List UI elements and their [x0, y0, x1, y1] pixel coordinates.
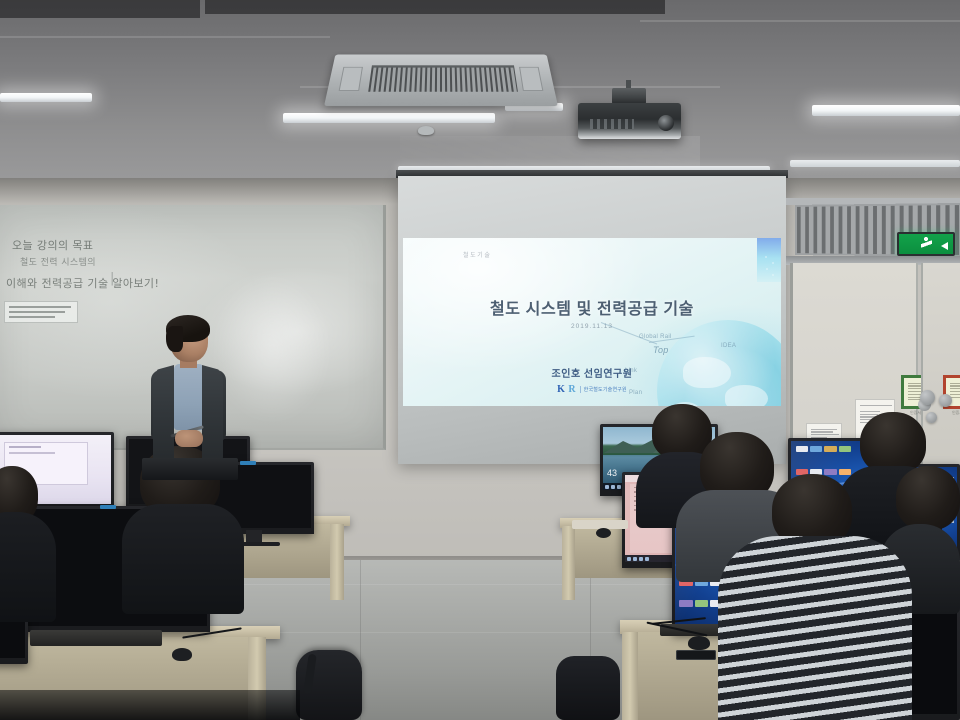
- presenter-hands: [175, 430, 203, 447]
- whiteboard-notice: 강의실 관리 안내문: [4, 301, 78, 323]
- mouse-mid[interactable]: [688, 636, 710, 650]
- mouse-left[interactable]: [172, 648, 192, 661]
- projector-controls: [590, 119, 634, 129]
- map-label-a: Global Rail: [639, 334, 672, 340]
- ceiling-light: [283, 113, 495, 123]
- ceiling-light: [790, 160, 960, 167]
- ceiling: [0, 0, 960, 182]
- keyboard-left[interactable]: [30, 630, 162, 646]
- projection-screen: 철도기술 철도 시스템 및 전력공급 기술 2019.11.13 조인호 선임연…: [398, 176, 786, 464]
- slide-corner-dots: [763, 254, 776, 278]
- presenter-shirt: [174, 364, 204, 430]
- slide-globe-graphic: [657, 320, 781, 406]
- map-label-c: IDEA: [721, 343, 736, 349]
- ac-vent: [519, 67, 543, 91]
- desk-leg: [562, 526, 575, 600]
- smoke-detector-icon: [418, 126, 434, 135]
- air-conditioner-unit: [324, 55, 558, 107]
- logo-mark-k: K: [557, 384, 564, 395]
- desk-leg: [622, 632, 638, 720]
- slide-title: 철도 시스템 및 전력공급 기술: [403, 295, 781, 319]
- student-body-left-1: [122, 504, 244, 614]
- map-label-e: Plan: [629, 390, 642, 396]
- ceiling-light: [812, 105, 960, 116]
- desk-leg: [330, 524, 344, 600]
- presenter: 조인호 선임연구원: [148, 318, 226, 464]
- mouse-mid-back[interactable]: [596, 528, 611, 538]
- student-body-left-2: [0, 512, 56, 622]
- running-man-icon: [921, 237, 932, 251]
- projector-lens-icon: [658, 115, 674, 131]
- map-label-b: Top: [653, 345, 669, 355]
- logo-mark-r: R: [568, 384, 575, 395]
- monitor-label-sticker: [100, 505, 116, 509]
- ceiling-light: [0, 93, 92, 102]
- monitor-label-sticker: [240, 461, 256, 465]
- exit-arrow-icon: [941, 242, 948, 250]
- whiteboard-mark: |: [110, 271, 115, 286]
- whiteboard-glare: [212, 273, 332, 423]
- student-head-right-1: [860, 412, 926, 474]
- ac-grille-icon: [368, 65, 518, 92]
- foreground-desk-shadow: [0, 690, 300, 720]
- wall-fixtures: [920, 390, 960, 436]
- logo-wordmark: 한국철도기술연구원: [580, 386, 627, 393]
- student-body-front-striped: [718, 536, 912, 720]
- ceiling-projector: [578, 103, 681, 139]
- whiteboard-text-line-2: 철도 전력 시스템의: [20, 255, 96, 268]
- presenter-hair-side: [166, 326, 183, 352]
- slide-kicker-text: 철도기술: [463, 250, 491, 259]
- ac-vent: [339, 67, 363, 91]
- student-head-right-2: [896, 466, 960, 530]
- whiteboard-text-line-1: 오늘 강의의 목표: [12, 237, 93, 253]
- exit-sign: EXIT: [897, 232, 955, 256]
- presentation-slide: 철도기술 철도 시스템 및 전력공급 기술 2019.11.13 조인호 선임연…: [403, 238, 781, 406]
- classroom-scene: 오늘 강의의 목표 철도 전력 시스템의 이해와 전력공급 기술 알아보기! |…: [0, 0, 960, 720]
- podium: [142, 458, 238, 480]
- whiteboard-text-line-3: 이해와 전력공급 기술 알아보기!: [6, 275, 159, 291]
- backpack-front: [556, 656, 620, 720]
- usb-hub[interactable]: [676, 650, 716, 660]
- projector-mount: [612, 88, 646, 104]
- map-label-d: Link: [625, 368, 637, 374]
